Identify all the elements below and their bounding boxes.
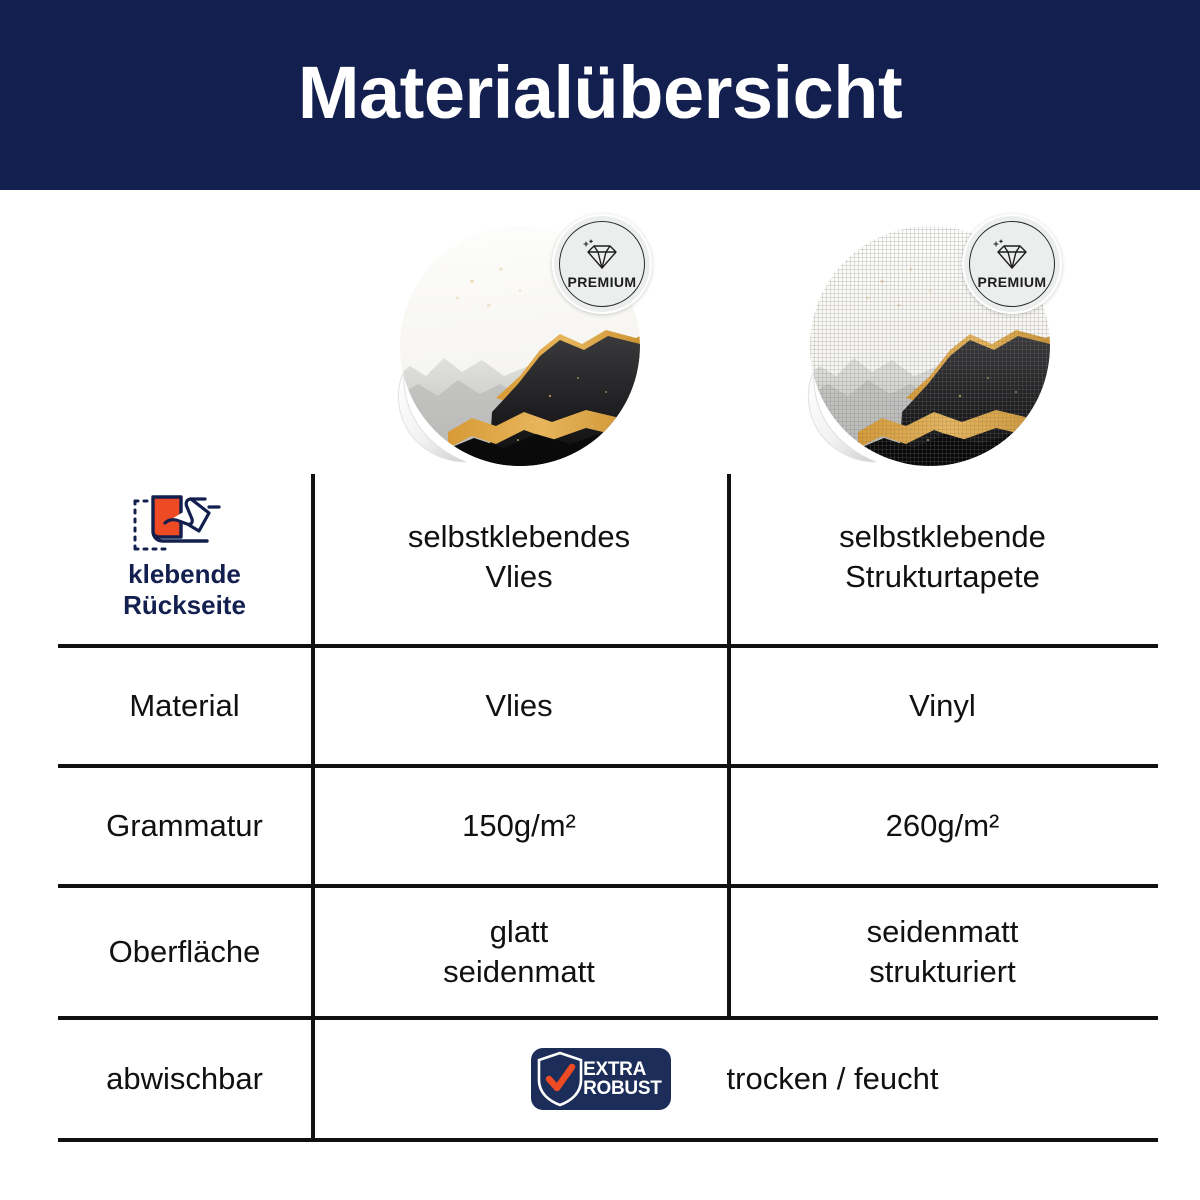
- column-divider-1: [311, 474, 315, 644]
- oberflaeche-strukturtapete-line2: strukturiert: [869, 954, 1015, 989]
- row-label-grammatur: Grammatur: [58, 768, 311, 884]
- table-row-abwischbar: abwischbar EXTRA ROBUST trocken / feucht: [58, 1020, 1158, 1138]
- sparkle-marks: [584, 240, 592, 246]
- header-cell-strukturtapete: selbstklebende Strukturtapete: [727, 470, 1158, 644]
- row-label-material: Material: [58, 648, 311, 764]
- oberflaeche-vlies-line1: glatt: [490, 914, 549, 949]
- material-overview-page: Materialübersicht: [0, 0, 1200, 1200]
- cell-oberflaeche-strukturtapete: seidenmatt strukturiert: [727, 888, 1158, 1016]
- peeling-sticker-hand-icon: [129, 493, 241, 557]
- cell-oberflaeche-vlies: glatt seidenmatt: [311, 888, 727, 1016]
- header-vlies-line2: Vlies: [485, 559, 552, 594]
- page-title: Materialübersicht: [298, 56, 902, 130]
- premium-badge-vlies: PREMIUM: [552, 214, 652, 314]
- oberflaeche-vlies-line2: seidenmatt: [443, 954, 595, 989]
- shield-check-icon: [535, 1051, 585, 1107]
- cell-abwischbar-value: EXTRA ROBUST trocken / feucht: [311, 1020, 1158, 1138]
- table-header-row: klebende Rückseite selbstklebendes Vlies…: [58, 470, 1158, 644]
- premium-badge-inner: PREMIUM: [559, 221, 645, 307]
- sparkle-marks: [994, 240, 1002, 246]
- diamond-icon: [992, 238, 1032, 272]
- extra-robust-line1: EXTRA: [583, 1059, 646, 1080]
- premium-badge-inner: PREMIUM: [969, 221, 1055, 307]
- column-divider-2: [727, 768, 731, 884]
- extra-robust-line2: ROBUST: [583, 1078, 661, 1099]
- premium-badge-label: PREMIUM: [978, 274, 1047, 290]
- table-row-material: Material Vlies Vinyl: [58, 648, 1158, 764]
- diamond-icon: [582, 238, 622, 272]
- sticky-back-line1: klebende: [128, 559, 241, 589]
- product-image-vlies: PREMIUM: [396, 218, 646, 468]
- header-banner: Materialübersicht: [0, 0, 1200, 190]
- product-image-row: PREMIUM: [0, 190, 1200, 490]
- header-cell-vlies: selbstklebendes Vlies: [311, 470, 727, 644]
- extra-robust-label: EXTRA ROBUST: [583, 1060, 661, 1099]
- column-divider-2: [727, 648, 731, 764]
- row-label-abwischbar: abwischbar: [58, 1020, 311, 1138]
- column-divider-1: [311, 648, 315, 764]
- cell-grammatur-strukturtapete: 260g/m²: [727, 768, 1158, 884]
- cell-material-vlies: Vlies: [311, 648, 727, 764]
- column-divider-1: [311, 1020, 315, 1138]
- sticky-back-line2: Rückseite: [123, 590, 246, 620]
- cell-grammatur-vlies: 150g/m²: [311, 768, 727, 884]
- premium-badge-label: PREMIUM: [568, 274, 637, 290]
- oberflaeche-strukturtapete-line1: seidenmatt: [867, 914, 1019, 949]
- header-strukturtapete-line2: Strukturtapete: [845, 559, 1040, 594]
- abwischbar-text: trocken / feucht: [727, 1059, 939, 1099]
- premium-badge-strukturtapete: PREMIUM: [962, 214, 1062, 314]
- table-bottom-rule: [58, 1138, 1158, 1142]
- extra-robust-badge: EXTRA ROBUST: [531, 1048, 671, 1110]
- header-vlies-line1: selbstklebendes: [408, 519, 630, 554]
- sticky-back-caption: klebende Rückseite: [123, 559, 246, 620]
- column-divider-2: [727, 474, 731, 644]
- column-divider-2: [727, 888, 731, 1016]
- table-row-oberflaeche: Oberfläche glatt seidenmatt seidenmatt s…: [58, 888, 1158, 1016]
- cell-material-strukturtapete: Vinyl: [727, 648, 1158, 764]
- row-label-oberflaeche: Oberfläche: [58, 888, 311, 1016]
- material-comparison-table: klebende Rückseite selbstklebendes Vlies…: [58, 470, 1158, 1142]
- product-image-strukturtapete: PREMIUM: [806, 218, 1056, 468]
- table-row-grammatur: Grammatur 150g/m² 260g/m²: [58, 768, 1158, 884]
- sticky-back-cell: klebende Rückseite: [58, 470, 311, 644]
- header-strukturtapete-line1: selbstklebende: [839, 519, 1046, 554]
- abwischbar-content: EXTRA ROBUST trocken / feucht: [321, 1048, 1148, 1110]
- column-divider-1: [311, 768, 315, 884]
- column-divider-1: [311, 888, 315, 1016]
